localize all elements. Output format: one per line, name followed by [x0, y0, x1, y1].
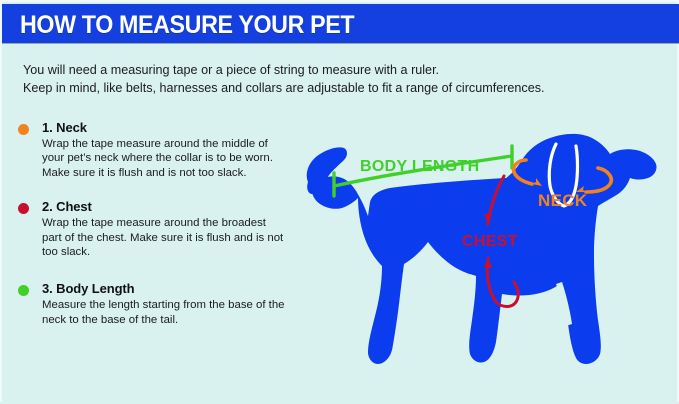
item-body-body-length: Measure the length starting from the bas… [42, 298, 290, 327]
infographic-page: HOW TO MEASURE YOUR PET You will need a … [0, 0, 679, 402]
page-title: HOW TO MEASURE YOUR PET [20, 11, 354, 40]
item-body-chest: Wrap the tape measure around the broades… [42, 216, 290, 259]
list-item: 2. Chest Wrap the tape measure around th… [18, 199, 290, 259]
measurement-list: 1. Neck Wrap the tape measure around the… [18, 120, 290, 342]
item-body-line: your pet’s neck where the collar is to b… [42, 151, 290, 165]
item-body-neck: Wrap the tape measure around the middle … [42, 137, 290, 180]
list-item: 1. Neck Wrap the tape measure around the… [18, 120, 290, 180]
list-item: 3. Body Length Measure the length starti… [18, 281, 290, 327]
item-body-line: neck to the base of the tail. [42, 313, 290, 327]
bullet-dot-neck [18, 124, 29, 135]
intro-text: You will need a measuring tape or a piec… [23, 61, 643, 97]
bullet-dot-body-length [18, 285, 29, 296]
dog-diagram: BODY LENGTH NECK CHEST [298, 98, 679, 404]
item-heading-neck: 1. Neck [42, 120, 290, 135]
item-body-line: Wrap the tape measure around the broades… [42, 216, 290, 230]
body-length-label: BODY LENGTH [360, 158, 479, 175]
neck-label: NECK [538, 191, 588, 210]
bullet-dot-chest [18, 203, 29, 214]
chest-label: CHEST [462, 233, 518, 250]
item-body-line: Make sure it is flush and is not too sla… [42, 166, 290, 180]
intro-line-2: Keep in mind, like belts, harnesses and … [23, 79, 643, 97]
item-heading-body-length: 3. Body Length [42, 281, 290, 296]
item-body-line: too slack. [42, 245, 290, 259]
item-body-line: part of the chest. Make sure it is flush… [42, 231, 290, 245]
item-heading-chest: 2. Chest [42, 199, 290, 214]
item-body-line: Measure the length starting from the bas… [42, 298, 290, 312]
header-bar: HOW TO MEASURE YOUR PET [2, 4, 679, 44]
item-body-line: Wrap the tape measure around the middle … [42, 137, 290, 151]
intro-line-1: You will need a measuring tape or a piec… [23, 61, 643, 79]
